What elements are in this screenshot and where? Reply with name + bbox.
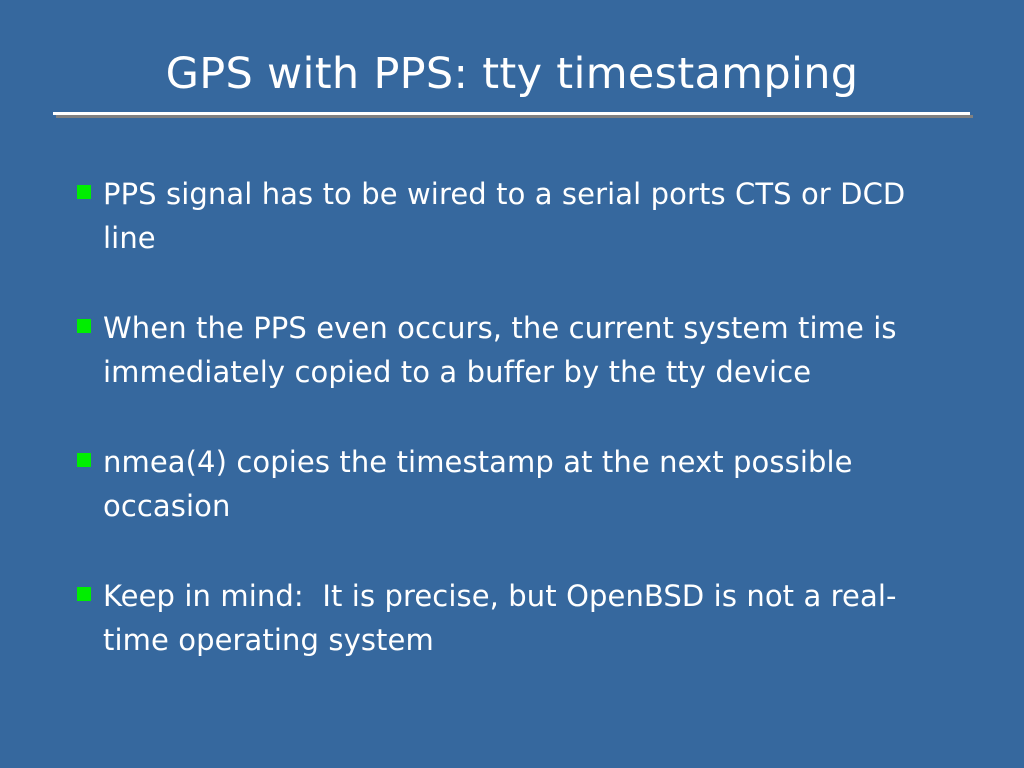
list-item: PPS signal has to be wired to a serial p… [77,172,957,260]
green-square-bullet-icon [77,185,91,199]
bullet-list: PPS signal has to be wired to a serial p… [77,172,957,662]
green-square-bullet-icon [77,319,91,333]
list-item-label: When the PPS even occurs, the current sy… [103,306,957,394]
green-square-bullet-icon [77,453,91,467]
list-item-label: Keep in mind: It is precise, but OpenBSD… [103,574,957,662]
green-square-bullet-icon [77,587,91,601]
presentation-slide: GPS with PPS: tty timestamping PPS signa… [0,0,1024,768]
title-divider [53,112,970,118]
list-item: Keep in mind: It is precise, but OpenBSD… [77,574,957,662]
slide-title-block: GPS with PPS: tty timestamping [0,48,1024,100]
list-item: When the PPS even occurs, the current sy… [77,306,957,394]
title-divider-shadow [56,115,973,118]
page-title: GPS with PPS: tty timestamping [0,48,1024,100]
list-item-label: nmea(4) copies the timestamp at the next… [103,440,957,528]
list-item-label: PPS signal has to be wired to a serial p… [103,172,957,260]
list-item: nmea(4) copies the timestamp at the next… [77,440,957,528]
